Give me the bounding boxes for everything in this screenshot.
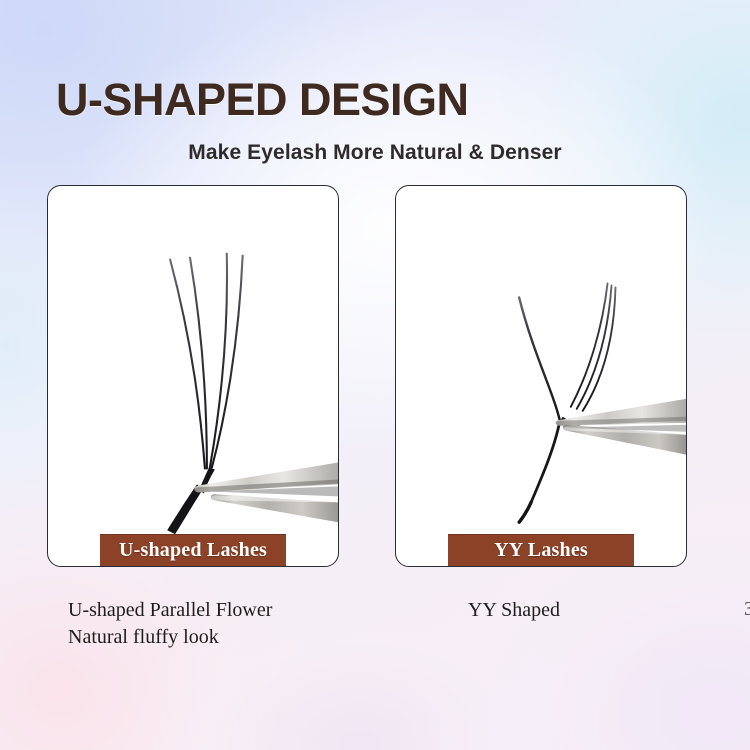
card-caption-yy: YY Shaped xyxy=(468,597,560,624)
page-number: 3 xyxy=(744,598,750,621)
card-badge-u-shaped: U-shaped Lashes xyxy=(100,534,286,566)
page-title: U-SHAPED DESIGN xyxy=(56,74,469,126)
product-poster: U-SHAPED DESIGN Make Eyelash More Natura… xyxy=(0,0,750,750)
product-card-yy: YY Lashes xyxy=(395,185,687,567)
card-badge-yy: YY Lashes xyxy=(448,534,634,566)
card-caption-u-shaped: U-shaped Parallel Flower Natural fluffy … xyxy=(68,597,272,651)
lash-photo-u-shaped xyxy=(48,186,338,566)
product-card-u-shaped: U-shaped Lashes xyxy=(47,185,339,567)
lash-photo-yy xyxy=(396,186,686,566)
page-subtitle: Make Eyelash More Natural & Denser xyxy=(0,141,750,165)
